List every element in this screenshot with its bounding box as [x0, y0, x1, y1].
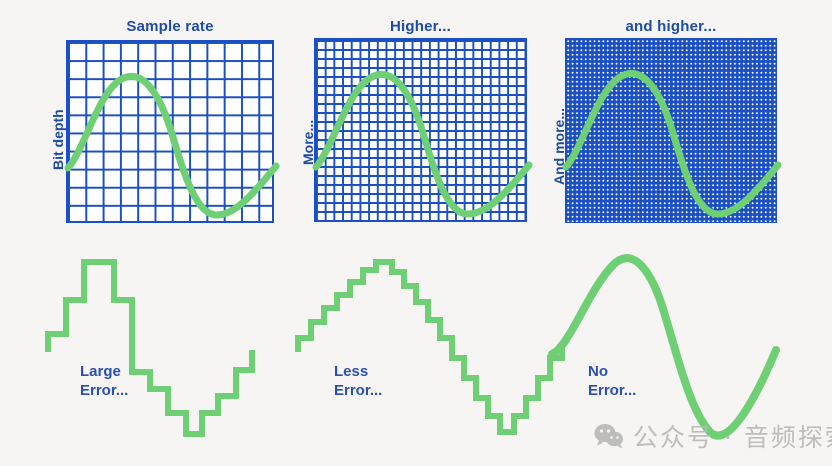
- quantized-wave-medium: [296, 250, 546, 440]
- panel-title-and-higher: and higher...: [565, 18, 777, 35]
- staircase-path-coarse: [46, 250, 286, 440]
- watermark-text: 公众号 · 音频探索: [633, 418, 832, 454]
- wechat-icon: [594, 423, 624, 449]
- staircase-path-medium: [296, 250, 546, 440]
- sampling-grid-fine: [565, 38, 777, 223]
- watermark: 公众号 · 音频探索: [594, 418, 832, 454]
- sine-wave-overlay-3: [566, 39, 778, 224]
- error-label-large-line1: Large: [80, 362, 128, 381]
- smooth-sine-path: [548, 250, 798, 445]
- panel-title-higher: Higher...: [314, 18, 527, 35]
- axis-label-bit-depth: Bit depth: [50, 109, 66, 170]
- error-label-less: Less Error...: [334, 362, 382, 400]
- sampling-grid-coarse: [66, 40, 274, 223]
- error-label-no-line1: No: [588, 362, 636, 381]
- quantized-wave-coarse: [46, 250, 286, 440]
- sine-wave-overlay-1: [68, 42, 276, 225]
- error-label-less-line2: Error...: [334, 381, 382, 400]
- panel-title-sample-rate: Sample rate: [66, 18, 274, 35]
- sine-wave-overlay-2: [316, 40, 529, 224]
- analog-wave-smooth: [548, 250, 798, 445]
- error-label-no: No Error...: [588, 362, 636, 400]
- error-label-no-line2: Error...: [588, 381, 636, 400]
- error-label-large: Large Error...: [80, 362, 128, 400]
- sampling-grid-medium: [314, 38, 527, 222]
- illustration-canvas: Sample rate Bit depth Higher... More... …: [0, 0, 832, 466]
- error-label-large-line2: Error...: [80, 381, 128, 400]
- error-label-less-line1: Less: [334, 362, 382, 381]
